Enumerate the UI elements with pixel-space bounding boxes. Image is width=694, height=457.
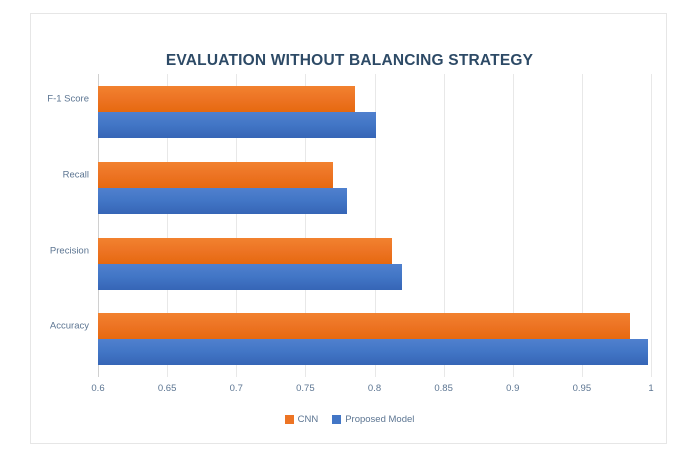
x-tick-label: 0.9 bbox=[506, 383, 519, 394]
bar-group: Precision bbox=[98, 227, 651, 303]
category-label: Accuracy bbox=[50, 321, 89, 332]
legend-item[interactable]: CNN bbox=[285, 414, 319, 425]
bar-proposed-model bbox=[98, 112, 376, 138]
chart-title: EVALUATION WITHOUT BALANCING STRATEGY bbox=[31, 52, 668, 70]
chart-card: EVALUATION WITHOUT BALANCING STRATEGY F-… bbox=[30, 13, 667, 444]
legend-label: Proposed Model bbox=[345, 414, 414, 425]
x-axis: 0.60.650.70.750.80.850.90.951 bbox=[98, 383, 651, 399]
bar-cnn bbox=[98, 162, 333, 188]
x-tick-label: 0.6 bbox=[91, 383, 104, 394]
chart-legend: CNNProposed Model bbox=[31, 414, 668, 425]
x-tick-label: 0.8 bbox=[368, 383, 381, 394]
legend-item[interactable]: Proposed Model bbox=[332, 414, 414, 425]
bar-cnn bbox=[98, 238, 392, 264]
x-tick-label: 0.75 bbox=[296, 383, 315, 394]
x-tick-label: 0.85 bbox=[434, 383, 453, 394]
bar-proposed-model bbox=[98, 339, 648, 365]
x-tick-label: 0.95 bbox=[573, 383, 592, 394]
legend-swatch-icon bbox=[332, 415, 341, 424]
plot-area: F-1 ScoreRecallPrecisionAccuracy bbox=[98, 74, 651, 377]
bar-proposed-model bbox=[98, 188, 347, 214]
legend-label: CNN bbox=[298, 414, 319, 425]
category-label: Precision bbox=[50, 245, 89, 256]
gridline bbox=[651, 74, 652, 377]
bar-group: Recall bbox=[98, 151, 651, 227]
x-tick-label: 0.7 bbox=[230, 383, 243, 394]
bar-group: Accuracy bbox=[98, 302, 651, 378]
bar-cnn bbox=[98, 313, 630, 339]
x-tick-label: 0.65 bbox=[158, 383, 177, 394]
x-tick-label: 1 bbox=[648, 383, 653, 394]
category-label: F-1 Score bbox=[47, 94, 89, 105]
legend-swatch-icon bbox=[285, 415, 294, 424]
bar-cnn bbox=[98, 86, 355, 112]
bar-proposed-model bbox=[98, 264, 402, 290]
bar-group: F-1 Score bbox=[98, 75, 651, 151]
category-label: Recall bbox=[63, 169, 89, 180]
